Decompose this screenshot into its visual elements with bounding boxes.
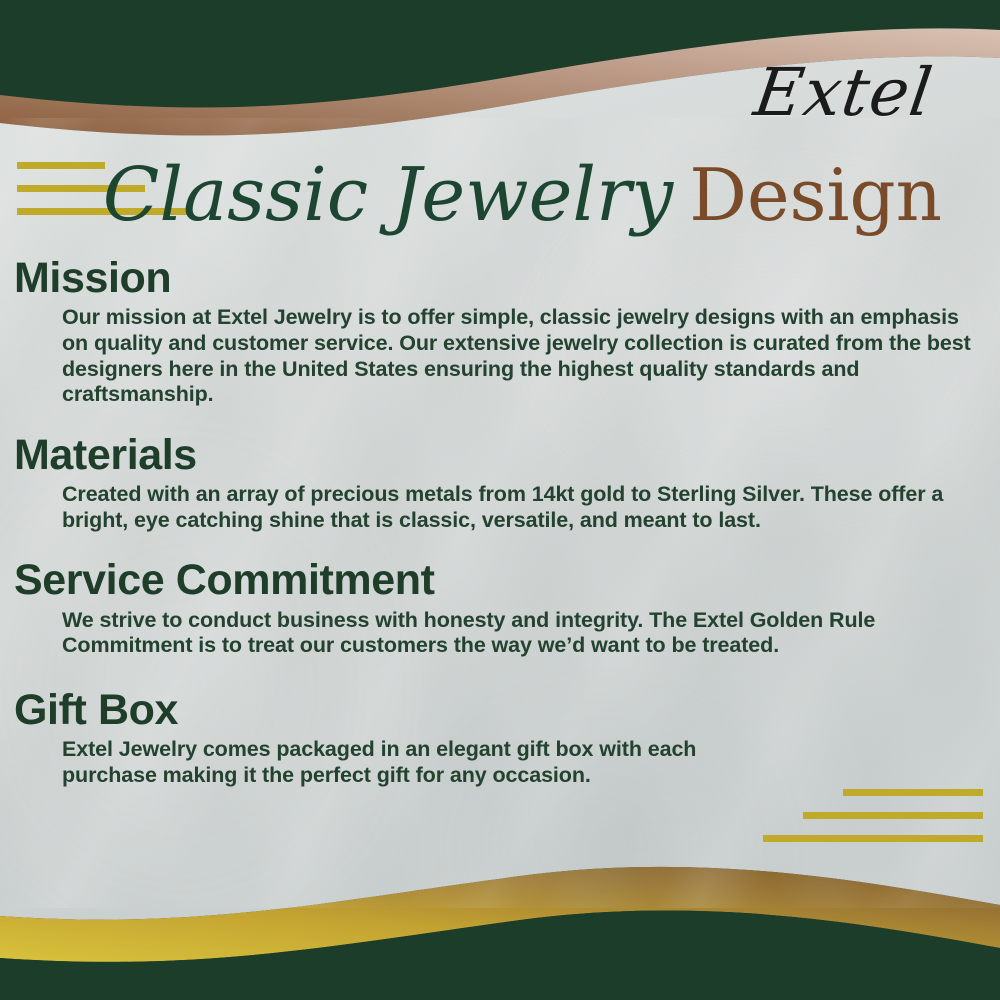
- title-design: Design: [689, 159, 942, 231]
- gold-line: [843, 789, 983, 796]
- section-gift-box: Gift Box Extel Jewelry comes packaged in…: [14, 687, 980, 789]
- section-title-materials: Materials: [14, 432, 980, 478]
- section-mission: Mission Our mission at Extel Jewelry is …: [14, 255, 980, 408]
- section-body-gift-box: Extel Jewelry comes packaged in an elega…: [62, 737, 782, 788]
- section-body-mission: Our mission at Extel Jewelry is to offer…: [62, 305, 980, 407]
- brand-script-logo: Extel: [750, 60, 936, 126]
- section-title-service-commitment: Service Commitment: [14, 557, 980, 603]
- page-title: Classic Jewelry Design: [0, 158, 942, 244]
- section-title-gift-box: Gift Box: [14, 687, 980, 733]
- gold-line: [763, 835, 983, 842]
- section-materials: Materials Created with an array of preci…: [14, 432, 980, 534]
- gold-line: [803, 812, 983, 819]
- title-classic-jewelry: Classic Jewelry: [103, 158, 673, 232]
- section-title-mission: Mission: [14, 255, 980, 301]
- poster-content: Extel Classic Jewelry Design Mission Our…: [0, 0, 1000, 1000]
- poster-canvas: Extel Classic Jewelry Design Mission Our…: [0, 0, 1000, 1000]
- section-body-service-commitment: We strive to conduct business with hones…: [62, 608, 980, 659]
- sections-list: Mission Our mission at Extel Jewelry is …: [14, 255, 980, 799]
- section-body-materials: Created with an array of precious metals…: [62, 482, 980, 533]
- section-service-commitment: Service Commitment We strive to conduct …: [14, 557, 980, 659]
- accent-lines-bottom-right: [763, 789, 983, 858]
